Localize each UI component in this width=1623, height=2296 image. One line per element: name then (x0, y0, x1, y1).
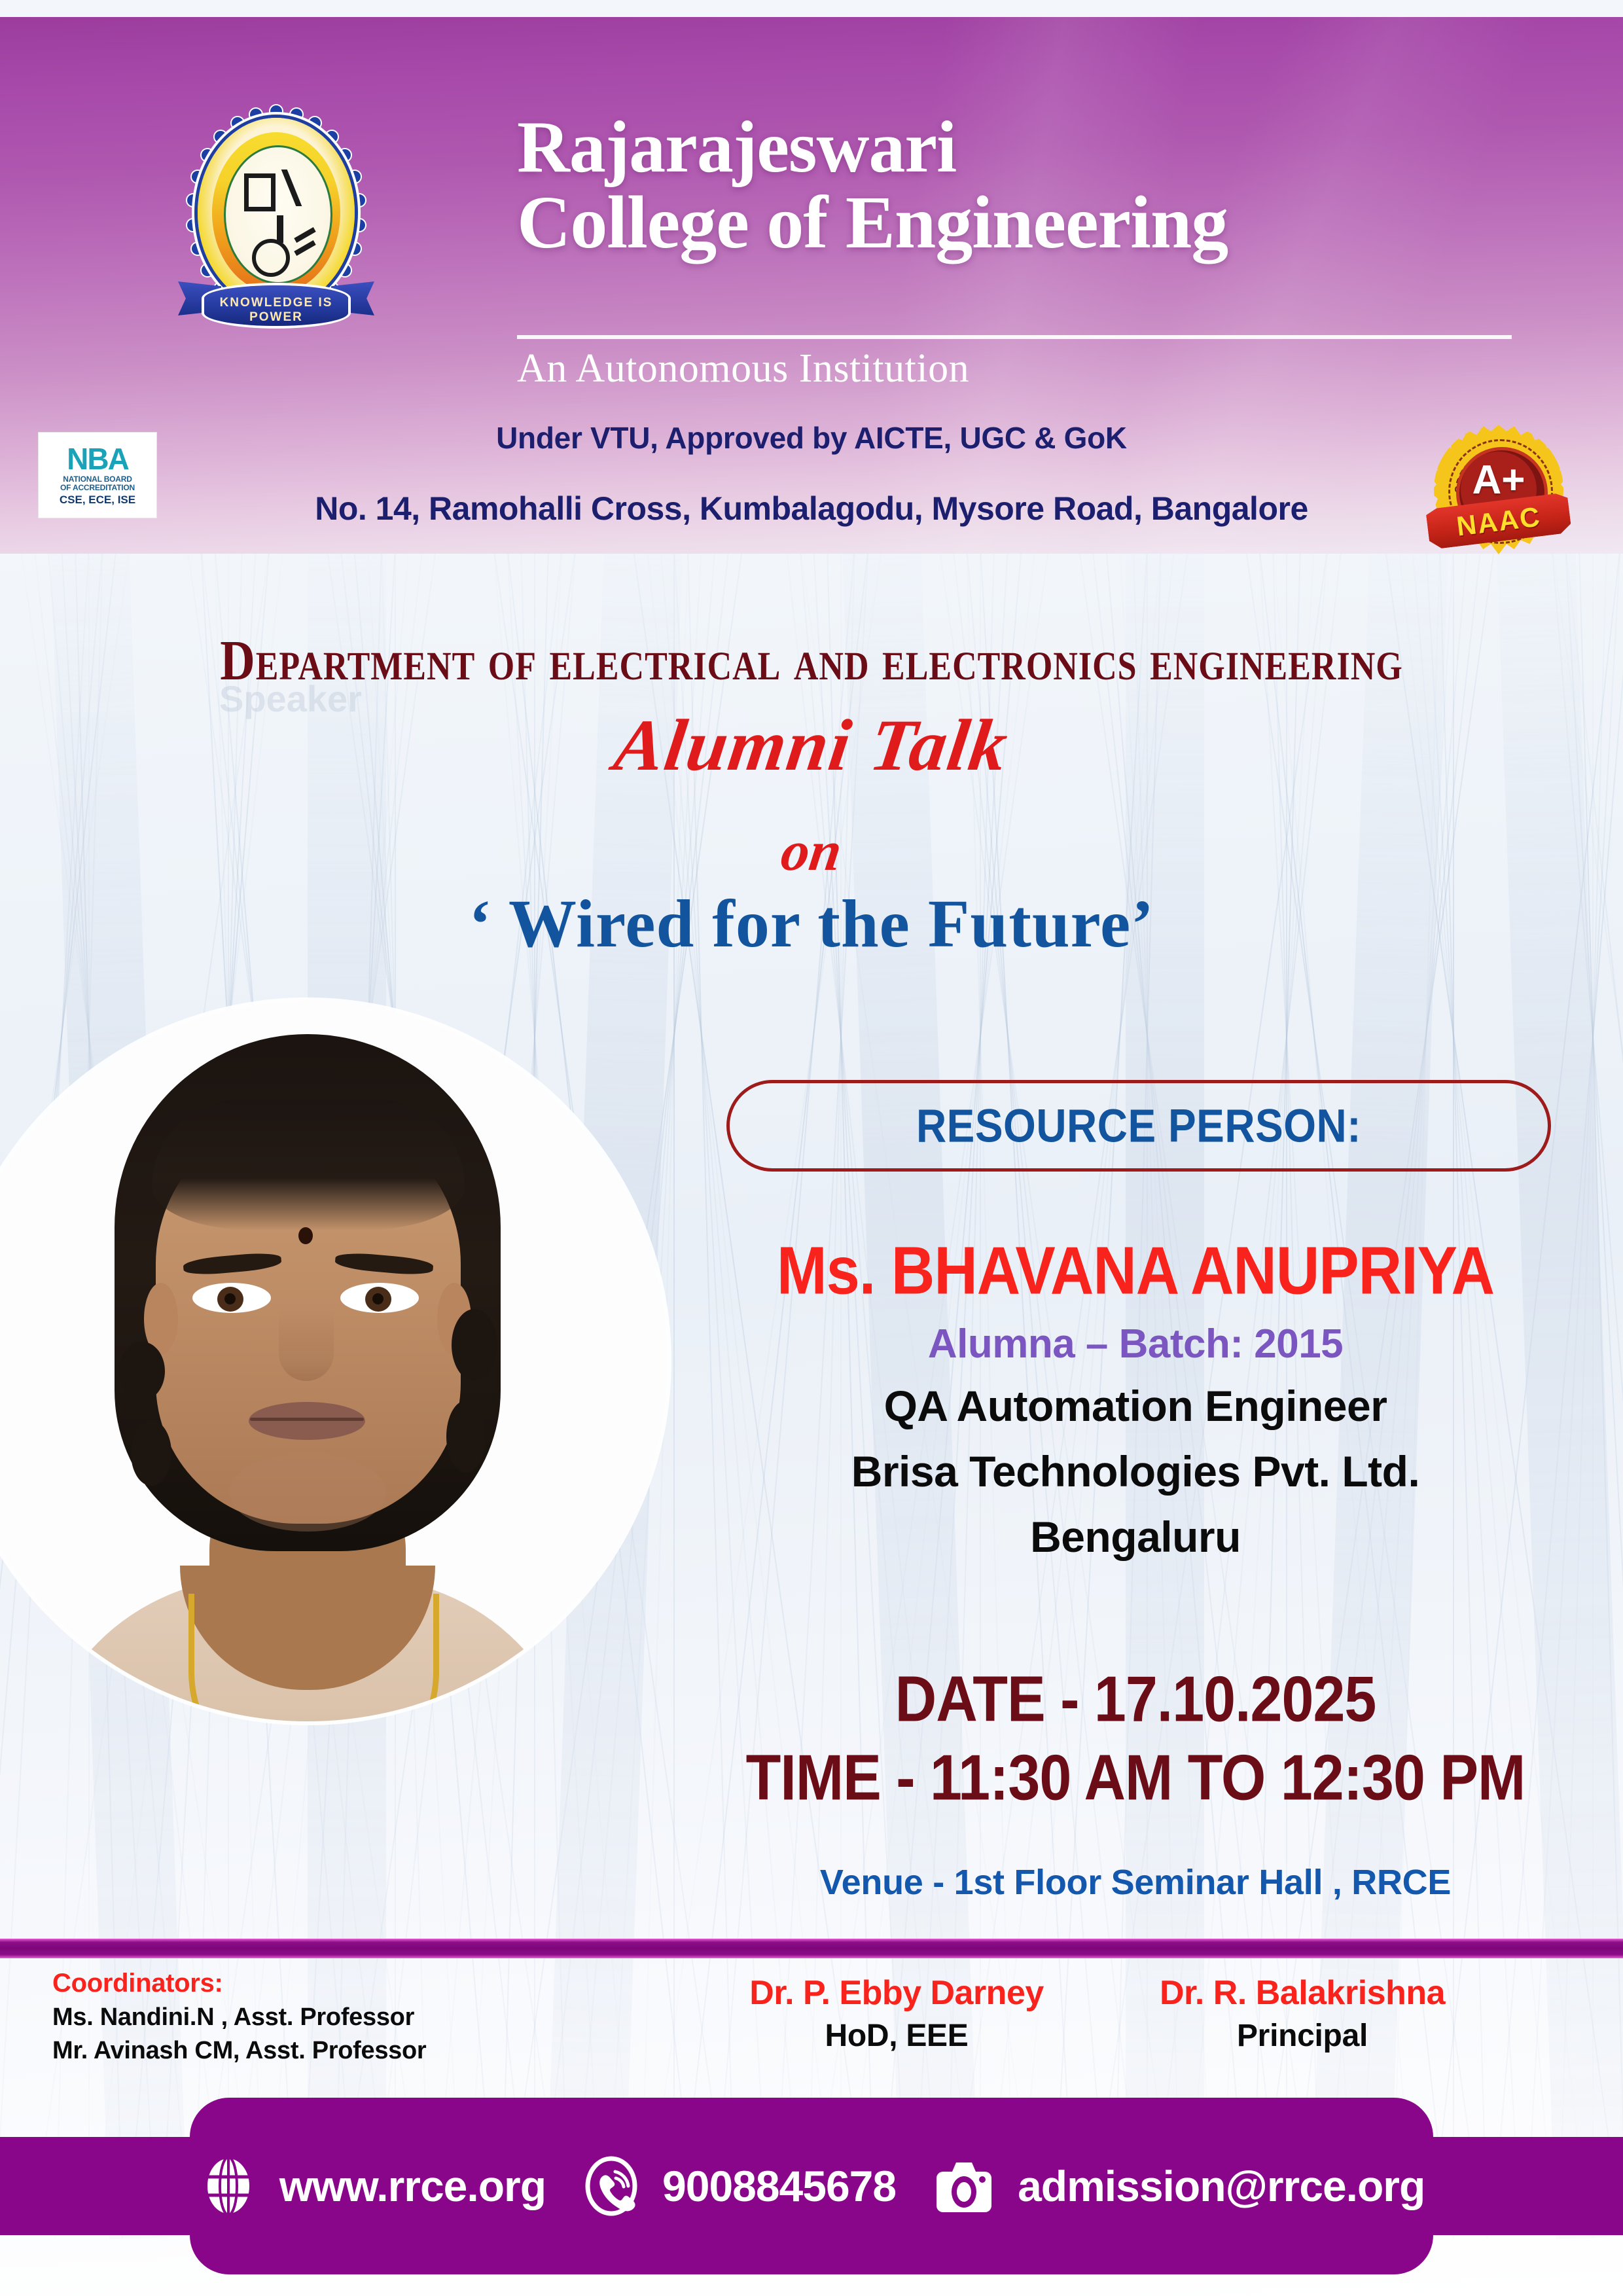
signatory-hod: Dr. P. Ebby Darney HoD, EEE (694, 1973, 1099, 2054)
speaker-role: QA Automation Engineer (648, 1381, 1623, 1431)
top-white-strip (0, 0, 1623, 17)
hod-name: Dr. P. Ebby Darney (694, 1973, 1099, 2013)
camera-icon (931, 2156, 997, 2216)
nba-programs: CSE, ECE, ISE (60, 493, 135, 507)
globe-icon (198, 2156, 259, 2216)
photo-hair-curl-3 (452, 1309, 497, 1381)
photo-chin (229, 1453, 386, 1532)
event-venue: Venue - 1st Floor Seminar Hall , RRCE (648, 1862, 1623, 1903)
photo-iris-right (365, 1287, 391, 1312)
photo-lips (249, 1402, 365, 1440)
signatory-principal: Dr. R. Balakrishna Principal (1099, 1973, 1505, 2054)
website-text: www.rrce.org (279, 2161, 546, 2211)
photo-iris-left (217, 1287, 243, 1312)
nba-subtitle-line2: OF ACCREDITATION (60, 483, 135, 492)
photo-bindi (298, 1227, 313, 1244)
hod-role: HoD, EEE (694, 2018, 1099, 2054)
principal-role: Principal (1099, 2018, 1505, 2054)
phone-text: 9008845678 (662, 2161, 896, 2211)
institution-name-line1: Rajarajeswari (517, 107, 956, 188)
phone-icon (581, 2156, 641, 2216)
principal-name: Dr. R. Balakrishna (1099, 1973, 1505, 2013)
college-crest-logo: KNOWLEDGE IS POWER (164, 111, 393, 360)
photo-hair-curl-4 (446, 1401, 486, 1473)
nba-subtitle: NATIONAL BOARD OF ACCREDITATION (60, 475, 135, 492)
resource-person-badge: RESOURCE PERSON: (726, 1080, 1551, 1172)
photo-lip-line (250, 1418, 364, 1421)
header-rule (517, 335, 1512, 339)
institution-approval: Under VTU, Approved by AICTE, UGC & GoK (0, 420, 1623, 456)
coordinators-title: Coordinators: (52, 1969, 510, 1998)
speaker-photo (0, 1001, 668, 1721)
contact-phone[interactable]: 9008845678 (581, 2156, 896, 2216)
institution-subtitle: An Autonomous Institution (517, 346, 1512, 392)
photo-hair-curl-2 (131, 1420, 171, 1486)
photo-watermark: Speaker (219, 677, 362, 720)
photo-gold-chain (188, 1594, 439, 1721)
speaker-company: Brisa Technologies Pvt. Ltd. (648, 1446, 1623, 1496)
naac-grade-text: A+ (1461, 460, 1537, 501)
photo-eye-right (340, 1283, 419, 1313)
coordinator-name-2: Mr. Avinash CM, Asst. Professor (52, 2037, 510, 2065)
photo-hair-curl-1 (119, 1342, 165, 1401)
event-date: DATE - 17.10.2025 (648, 1662, 1623, 1736)
nba-mark: NBA (67, 444, 128, 474)
photo-eye-left (192, 1283, 271, 1313)
crest-motto: KNOWLEDGE IS POWER (208, 296, 344, 325)
crest-ribbon: KNOWLEDGE IS POWER (178, 276, 374, 336)
email-text: admission@rrce.org (1018, 2161, 1425, 2211)
nba-accreditation-logo: NBA NATIONAL BOARD OF ACCREDITATION CSE,… (38, 432, 157, 518)
photo-hairline (152, 1100, 465, 1230)
section-divider (0, 1939, 1623, 1958)
coordinators-block: Coordinators: Ms. Nandini.N , Asst. Prof… (52, 1969, 510, 2065)
speaker-city: Bengaluru (648, 1512, 1623, 1562)
photo-nose (279, 1309, 334, 1381)
event-connector: on (0, 818, 1623, 884)
footer-contact-row: www.rrce.org 9008845678 (0, 2144, 1623, 2229)
contact-email[interactable]: admission@rrce.org (931, 2156, 1425, 2216)
crest-inner-emblem (224, 145, 332, 284)
speaker-name: Ms. BHAVANA ANUPRIYA (648, 1233, 1623, 1310)
speaker-batch: Alumna – Batch: 2015 (648, 1321, 1623, 1367)
coordinator-name-1: Ms. Nandini.N , Asst. Professor (52, 2003, 510, 2032)
naac-accreditation-seal: ACCREDITED WITH GRADE A+ NAAC (1430, 422, 1567, 561)
institution-name-line2: College of Engineering (517, 185, 1538, 260)
contact-website[interactable]: www.rrce.org (198, 2156, 546, 2216)
event-time: TIME - 11:30 AM TO 12:30 PM (648, 1740, 1623, 1815)
resource-person-label: RESOURCE PERSON: (916, 1099, 1361, 1153)
institution-address: No. 14, Ramohalli Cross, Kumbalagodu, My… (0, 490, 1623, 528)
poster-canvas: KNOWLEDGE IS POWER Rajarajeswari College… (0, 0, 1623, 2296)
event-topic-title: ‘ Wired for the Future’ (0, 885, 1623, 963)
institution-name: Rajarajeswari College of Engineering (517, 110, 1538, 261)
